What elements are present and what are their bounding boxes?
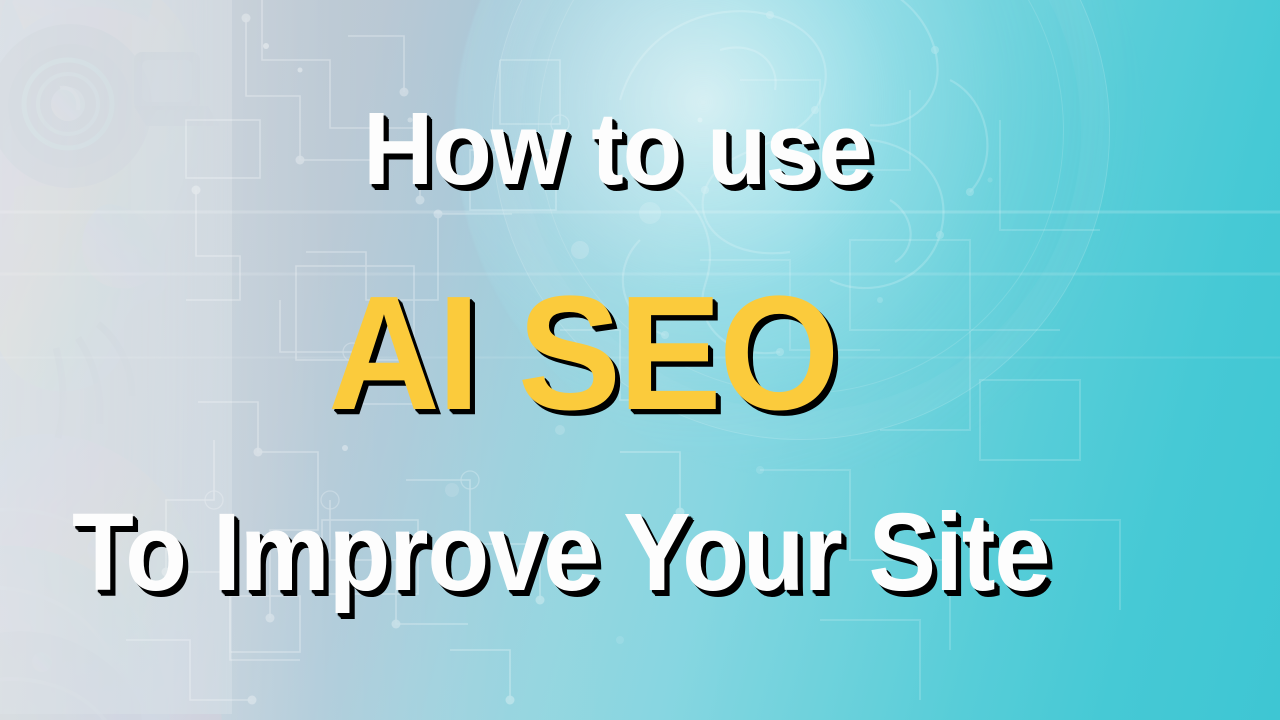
headline-line-1: How to use [363,98,871,201]
headline-line-2-accent: AI SEO [328,272,837,435]
headline-block: How to use AI SEO To Improve Your Site [0,0,1280,720]
headline-line-3: To Improve Your Site [72,498,1049,608]
thumbnail-canvas: How to use AI SEO To Improve Your Site [0,0,1280,720]
